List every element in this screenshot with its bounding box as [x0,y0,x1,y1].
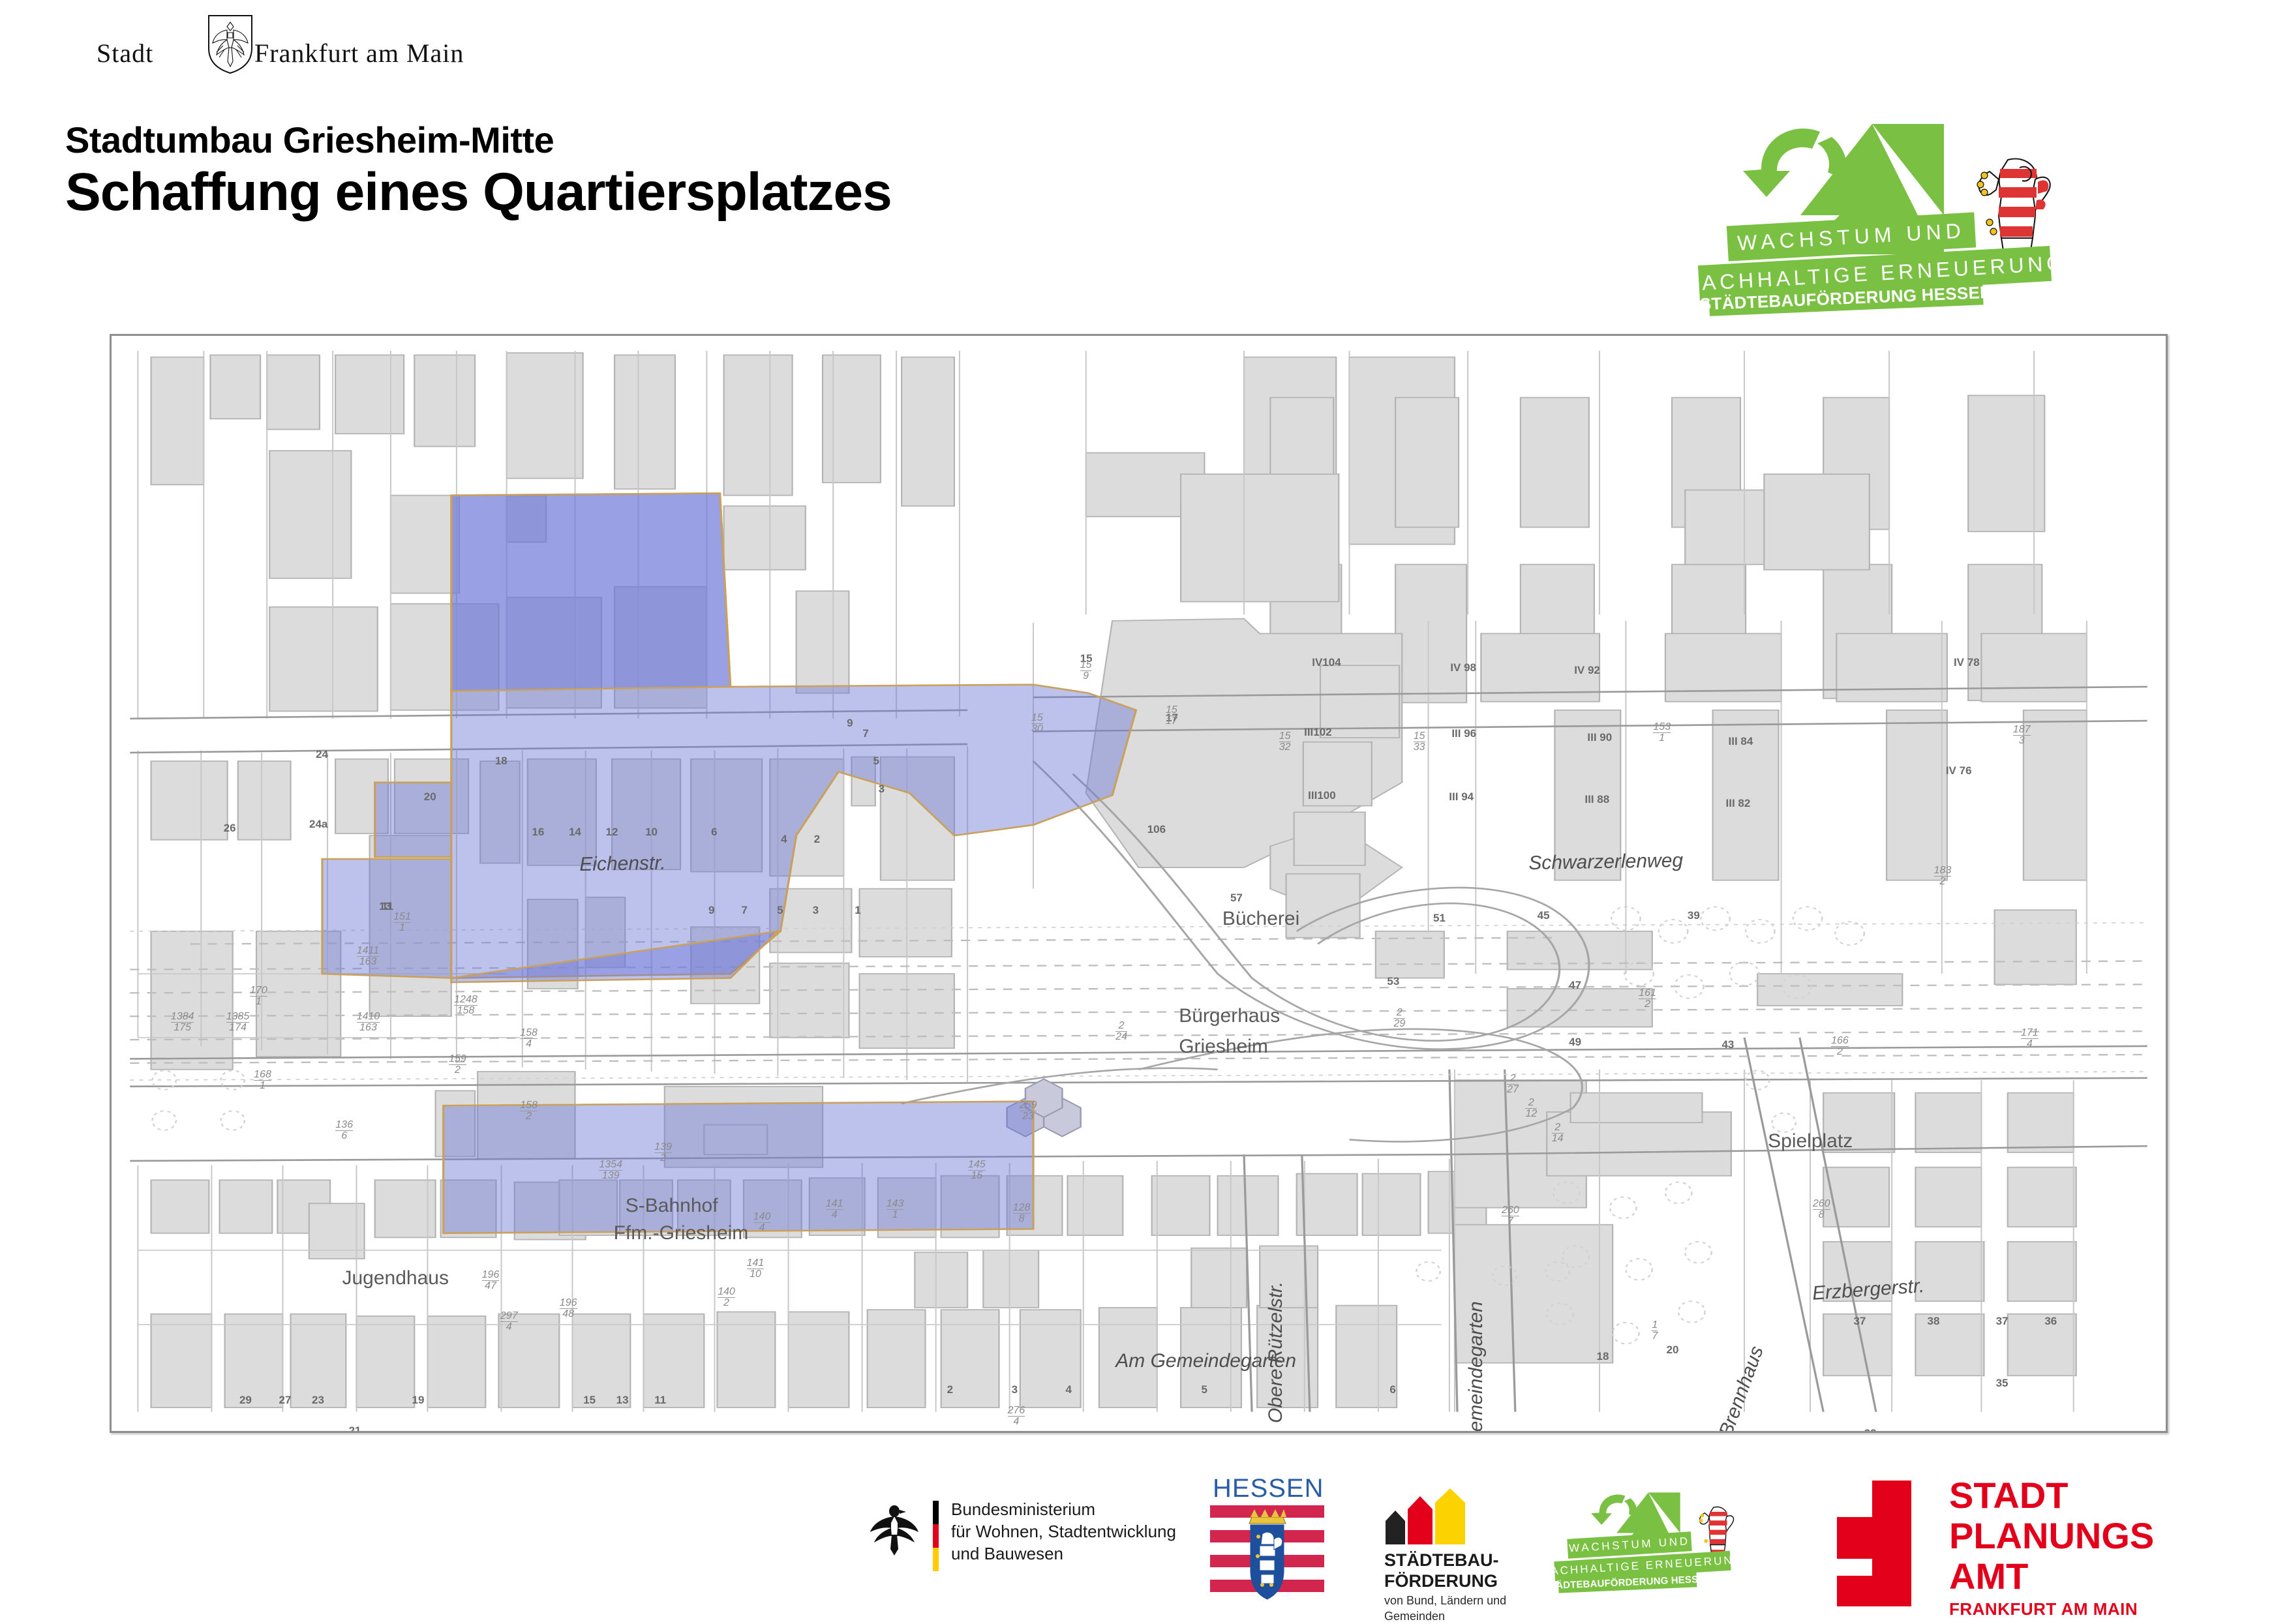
house-number-label: 49 [1569,1036,1581,1049]
bmwsb-line-1: Bundesministerium [951,1498,1176,1520]
house-number-label: 4 [1065,1383,1071,1396]
house-number-label: III102 [1304,726,1332,739]
house-number-label: 24a [309,818,327,831]
house-number-label: 45 [1538,909,1550,922]
house-number-label: 51 [1433,912,1446,925]
house-number-label: 37 [1853,1315,1866,1328]
house-number-label: 15 [583,1394,596,1407]
parcel-number-label: 2974 [500,1311,518,1332]
house-number-label: 38 [1928,1315,1940,1328]
wachstum-erneuerung-logo-footer: WACHSTUM UND NACHHALTIGE ERNEUERUNG STÄD… [1549,1486,1758,1603]
house-number-label: III 90 [1587,731,1612,744]
house-number-label: III 94 [1449,790,1474,804]
house-number-label: 21 [349,1424,361,1433]
street-label: Schwarzerlenweg [1528,850,1683,875]
city-logo-part2: Frankfurt am Main [254,38,464,68]
parcel-number-label: 2764 [1008,1406,1025,1427]
flag-red-band [933,1524,939,1548]
house-number-label: 1 [855,904,860,917]
parcel-number-label: 229 [1393,1008,1405,1029]
three-houses-icon [1383,1487,1481,1546]
parcel-number-label: 14515 [968,1160,986,1181]
house-number-label: 7 [862,727,868,740]
parcel-number-label: 1385174 [226,1012,250,1033]
house-number-label: 33 [1864,1427,1877,1433]
parcel-number-label: 1582 [520,1100,538,1122]
spa-line-1: STADT [1949,1475,2154,1516]
parcel-number-label: 1873 [2013,725,2031,746]
house-number-label: 7 [742,904,748,917]
parcel-number-label: 14110 [747,1258,765,1280]
house-number-label: 11 [654,1394,666,1407]
house-number-label: 10 [645,826,658,839]
wachstum-erneuerung-badge: WACHSTUM UND NACHHALTIGE ERNEUERUNG STÄD… [1722,117,2127,300]
parcel-number-label: 1592 [449,1054,466,1075]
spa-subline: FRANKFURT AM MAIN [1949,1599,2138,1619]
stf-line-1: STÄDTEBAU- [1384,1550,1499,1571]
parcel-number-label: 17 [1652,1320,1658,1342]
house-number-label: 106 [1147,823,1166,836]
parcel-number-label: 1431 [887,1199,904,1220]
house-number-label: 57 [1230,892,1243,905]
house-number-label: III 82 [1726,797,1751,810]
house-number-label: 13 [379,900,391,913]
parcel-number-label: 212 [1525,1098,1537,1119]
house-number-label: IV 76 [1946,764,1972,777]
house-number-label: III100 [1308,789,1336,802]
parcel-number-label: 1354139 [599,1160,622,1181]
house-number-label: 29 [239,1394,252,1407]
parcel-number-label: 1714 [2021,1028,2039,1049]
house-number-label: III 96 [1451,727,1476,740]
stf-sub-1: von Bund, Ländern und [1384,1593,1506,1608]
hessen-wordmark: HESSEN [1213,1474,1324,1503]
parcel-number-label: 2607 [1502,1205,1519,1227]
poi-label: Griesheim [1179,1036,1268,1058]
parcel-number-label: 1411163 [357,946,379,967]
house-number-label: 5 [873,755,879,768]
house-number-label: 23 [312,1394,324,1407]
parcel-number-label: 1366 [335,1120,353,1141]
parcel-number-label: 214 [1552,1122,1564,1144]
street-label: Eichenstr. [579,852,666,876]
house-number-label: 36 [2044,1315,2057,1328]
house-number-label: 18 [495,755,508,768]
parcel-number-label: 1530 [1031,713,1043,734]
house-number-label: 18 [1597,1350,1609,1363]
poi-label: Heimatmuseum [362,1431,499,1433]
poi-label: Spielpl. [1577,1431,1641,1433]
parcel-number-label: 1701 [250,985,267,1007]
house-number-label: III 88 [1584,793,1609,806]
house-number-label: 24 [316,748,328,761]
house-number-label: IV104 [1312,656,1341,669]
house-number-label: 27 [279,1394,292,1407]
parcel-number-label: 19648 [560,1298,577,1319]
eagle-coat-of-arms-icon [207,14,253,74]
spa-line-2: PLANUNGS [1949,1516,2154,1556]
cadastral-map[interactable]: Eichenstr.SchwarzerlenwegAm Gemeindegart… [110,334,2168,1433]
poi-label: Jugendhaus [342,1267,449,1289]
house-number-label: III 84 [1729,735,1753,748]
street-label: Obere Rützelstr. [1265,1281,1287,1422]
spa-line-3: AMT [1949,1556,2154,1597]
parcel-number-label: 1410163 [357,1012,380,1033]
parcel-number-label: 1531 [1653,722,1671,744]
parcel-number-label: 1612 [1639,988,1656,1010]
poi-label: Bürgerhaus [1179,1005,1280,1027]
parcel-number-label: 1662 [1831,1036,1849,1057]
parcel-number-label: 1533 [1414,731,1425,753]
parcel-number-label: 1532 [1279,731,1291,753]
poi-label: Ffm.-Griesheim [614,1222,749,1244]
house-number-label: 39 [1688,909,1700,922]
page-title: Schaffung eines Quartiersplatzes [65,162,892,223]
city-logo-part1: Stadt [97,38,153,68]
house-number-label: 13 [616,1394,629,1407]
house-number-label: 14 [569,826,581,839]
parcel-number-label: 1584 [520,1028,538,1049]
parcel-number-label: 2608 [1813,1199,1830,1220]
house-number-label: 35 [1996,1377,2009,1390]
hessen-flag-icon [1210,1505,1324,1603]
parcel-number-label: 1414 [826,1199,843,1220]
bmwsb-line-3: und Bauwesen [951,1542,1176,1565]
page-header: Stadt Frankfurt am Main Stadtumbau Gries… [0,0,2289,326]
bundesadler-icon [868,1497,921,1557]
poi-label: Spielplatz [1768,1130,1853,1152]
bmwsb-logo: Bundesministerium für Wohnen, Stadtentwi… [868,1490,1181,1595]
parcel-number-label: 25923 [1020,1100,1037,1122]
parcel-number-label: 1517 [1166,705,1177,727]
page-footer: Bundesministerium für Wohnen, Stadtentwi… [0,1467,2289,1617]
bmwsb-line-2: für Wohnen, Stadtentwicklung [951,1520,1176,1542]
hessen-logo: HESSEN [1210,1474,1327,1601]
house-number-label: 3 [879,783,885,796]
house-number-label: 47 [1569,979,1581,992]
parcel-number-label: 1402 [718,1287,735,1308]
stadtplanungsamt-logo: STADT PLANUNGS AMT FRANKFURT AM MAIN [1832,1475,2145,1609]
parcel-number-label: 224 [1115,1021,1127,1042]
house-number-label: 53 [1387,975,1399,988]
parcel-number-label: 1404 [753,1212,771,1233]
parcel-number-label: 1288 [1013,1203,1031,1224]
stf-sub-2: Gemeinden [1384,1608,1506,1624]
poi-label: S-Bahnhof [626,1195,718,1217]
house-number-label: 19 [412,1394,425,1407]
parcel-number-label: 1511 [393,912,411,933]
house-number-label: 20 [1667,1344,1679,1357]
street-label: Am Gemeindegarten [1465,1302,1487,1433]
parcel-number-label: 1248158 [454,995,478,1016]
house-number-label: 3 [1012,1383,1018,1396]
house-number-label: 4 [781,833,787,846]
flag-gold-band [933,1548,939,1571]
house-number-label: 43 [1721,1038,1734,1051]
house-number-label: 2 [814,833,820,846]
house-number-label: 9 [708,904,714,917]
house-number-label: 2 [947,1383,953,1396]
parcel-number-label: 1392 [654,1142,672,1164]
city-of-frankfurt-logo: Stadt Frankfurt am Main [97,34,527,80]
house-number-label: IV 92 [1574,664,1600,677]
parcel-number-label: 227 [1507,1074,1519,1095]
house-number-label: IV 98 [1450,661,1476,674]
parcel-number-label: 1832 [1934,865,1952,887]
house-number-label: IV 78 [1954,656,1980,669]
house-number-label: 37 [1996,1315,2009,1328]
house-number-label: 6 [711,826,717,839]
house-number-label: 6 [1389,1383,1395,1396]
house-number-label: 3 [813,904,819,917]
house-number-label: 20 [424,790,436,804]
stf-line-2: FÖRDERUNG [1384,1571,1499,1591]
house-number-label: 26 [224,822,236,835]
stadtplanungsamt-mark-icon [1832,1479,1936,1606]
house-number-label: 5 [777,904,783,917]
parcel-number-label: 19647 [482,1270,500,1291]
page-subtitle: Stadtumbau Griesheim-Mitte [65,119,554,161]
parcel-number-label: 1681 [254,1070,271,1091]
house-number-label: 16 [532,826,544,839]
house-number-label: 9 [847,717,853,730]
house-number-label: 5 [1202,1383,1207,1396]
poi-label: Bücherei [1222,908,1299,930]
parcel-number-label: 1384175 [171,1012,194,1033]
flag-black-band [933,1501,939,1524]
house-number-label: 12 [606,826,618,839]
parcel-number-label: 159 [1080,660,1092,682]
